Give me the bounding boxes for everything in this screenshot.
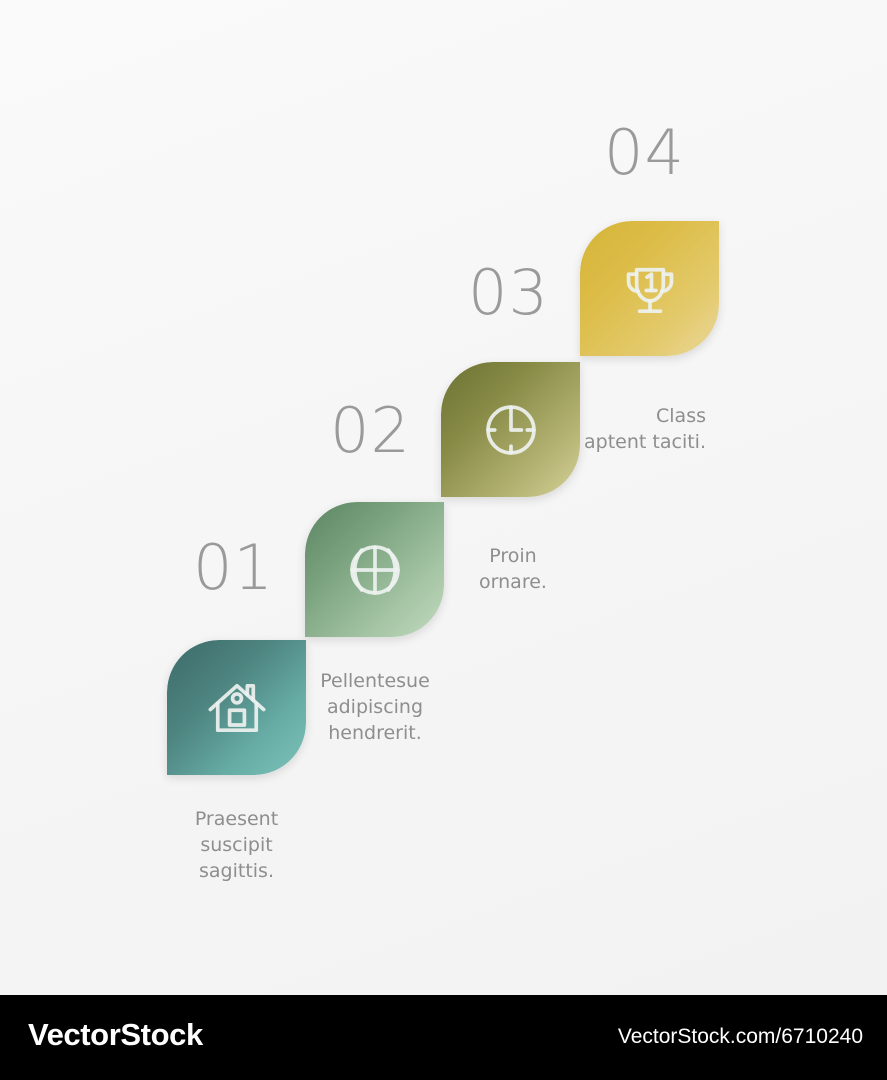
step-tile-01[interactable] [167, 640, 306, 775]
step-caption-02: Pellentesue adipiscing hendrerit. [305, 668, 445, 747]
footer-brand-logo: VectorStock [28, 1017, 203, 1053]
footer-bar: VectorStock VectorStock.com/6710240 [0, 995, 887, 1080]
step-tile-02[interactable] [305, 502, 444, 637]
basketball-icon [305, 502, 444, 637]
step-number-02: 02 [330, 400, 411, 462]
step-number-01: 01 [193, 537, 274, 599]
clock-icon [441, 362, 580, 497]
step-tile-03[interactable] [441, 362, 580, 497]
step-caption-03: Proin ornare. [443, 543, 583, 595]
step-number-03: 03 [468, 262, 549, 324]
footer-url: VectorStock.com/6710240 [618, 1025, 863, 1049]
trophy-icon [580, 221, 719, 356]
step-tile-04[interactable] [580, 221, 719, 356]
house-icon [167, 640, 306, 775]
step-number-04: 04 [604, 122, 685, 184]
infographic-canvas: 04 [0, 0, 887, 995]
step-caption-01: Praesent suscipit sagittis. [167, 806, 306, 885]
